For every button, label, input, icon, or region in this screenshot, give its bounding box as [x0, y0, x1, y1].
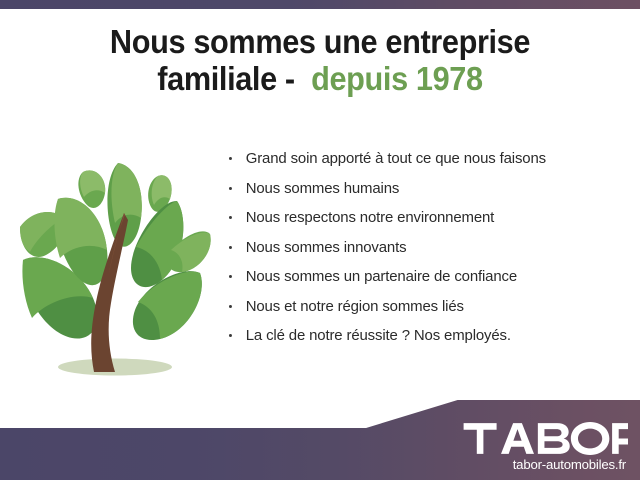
list-item: Nous sommes humains — [228, 180, 622, 197]
bullet-dot-icon — [229, 216, 232, 219]
list-item: Nous et notre région sommes liés — [228, 298, 622, 315]
heading-line-2-accent: depuis 1978 — [311, 60, 483, 97]
heading-line-2: familiale - depuis 1978 — [22, 61, 617, 98]
list-item: Nous sommes innovants — [228, 239, 622, 256]
benefits-list: Grand soin apporté à tout ce que nous fa… — [228, 150, 628, 357]
list-item: La clé de notre réussite ? Nos employés. — [228, 327, 622, 344]
list-item-label: Nous sommes un partenaire de confiance — [246, 268, 517, 285]
list-item: Nous respectons notre environnement — [228, 209, 622, 226]
heading-line-1: Nous sommes une entreprise — [22, 24, 617, 61]
bullet-dot-icon — [229, 305, 232, 308]
bullet-dot-icon — [229, 246, 232, 249]
tree-shadow-ellipse — [58, 359, 172, 376]
list-item: Nous sommes un partenaire de confiance — [228, 268, 622, 285]
tree-illustration — [14, 152, 216, 384]
tabor-wordmark-icon — [462, 422, 628, 455]
leaf-top-small-left — [78, 170, 105, 208]
list-item-label: Nous respectons notre environnement — [246, 209, 494, 226]
top-accent-bar — [0, 0, 640, 9]
slide-canvas: Nous sommes une entreprise familiale - d… — [0, 0, 640, 480]
list-item-label: Nous et notre région sommes liés — [246, 298, 464, 315]
logo-tagline: tabor-automobiles.fr — [448, 457, 628, 472]
list-item-label: Nous sommes innovants — [246, 239, 407, 256]
heading-line-2-main: familiale - — [157, 60, 294, 97]
page-title: Nous sommes une entreprise familiale - d… — [0, 24, 640, 98]
bullet-dot-icon — [229, 157, 232, 160]
list-item: Grand soin apporté à tout ce que nous fa… — [228, 150, 622, 167]
brand-logo: tabor-automobiles.fr — [448, 422, 628, 472]
list-item-label: La clé de notre réussite ? Nos employés. — [246, 327, 511, 344]
bullet-dot-icon — [229, 334, 232, 337]
bullet-dot-icon — [229, 187, 232, 190]
list-item-label: Grand soin apporté à tout ce que nous fa… — [246, 150, 546, 167]
bullet-dot-icon — [229, 275, 232, 278]
list-item-label: Nous sommes humains — [246, 180, 400, 197]
